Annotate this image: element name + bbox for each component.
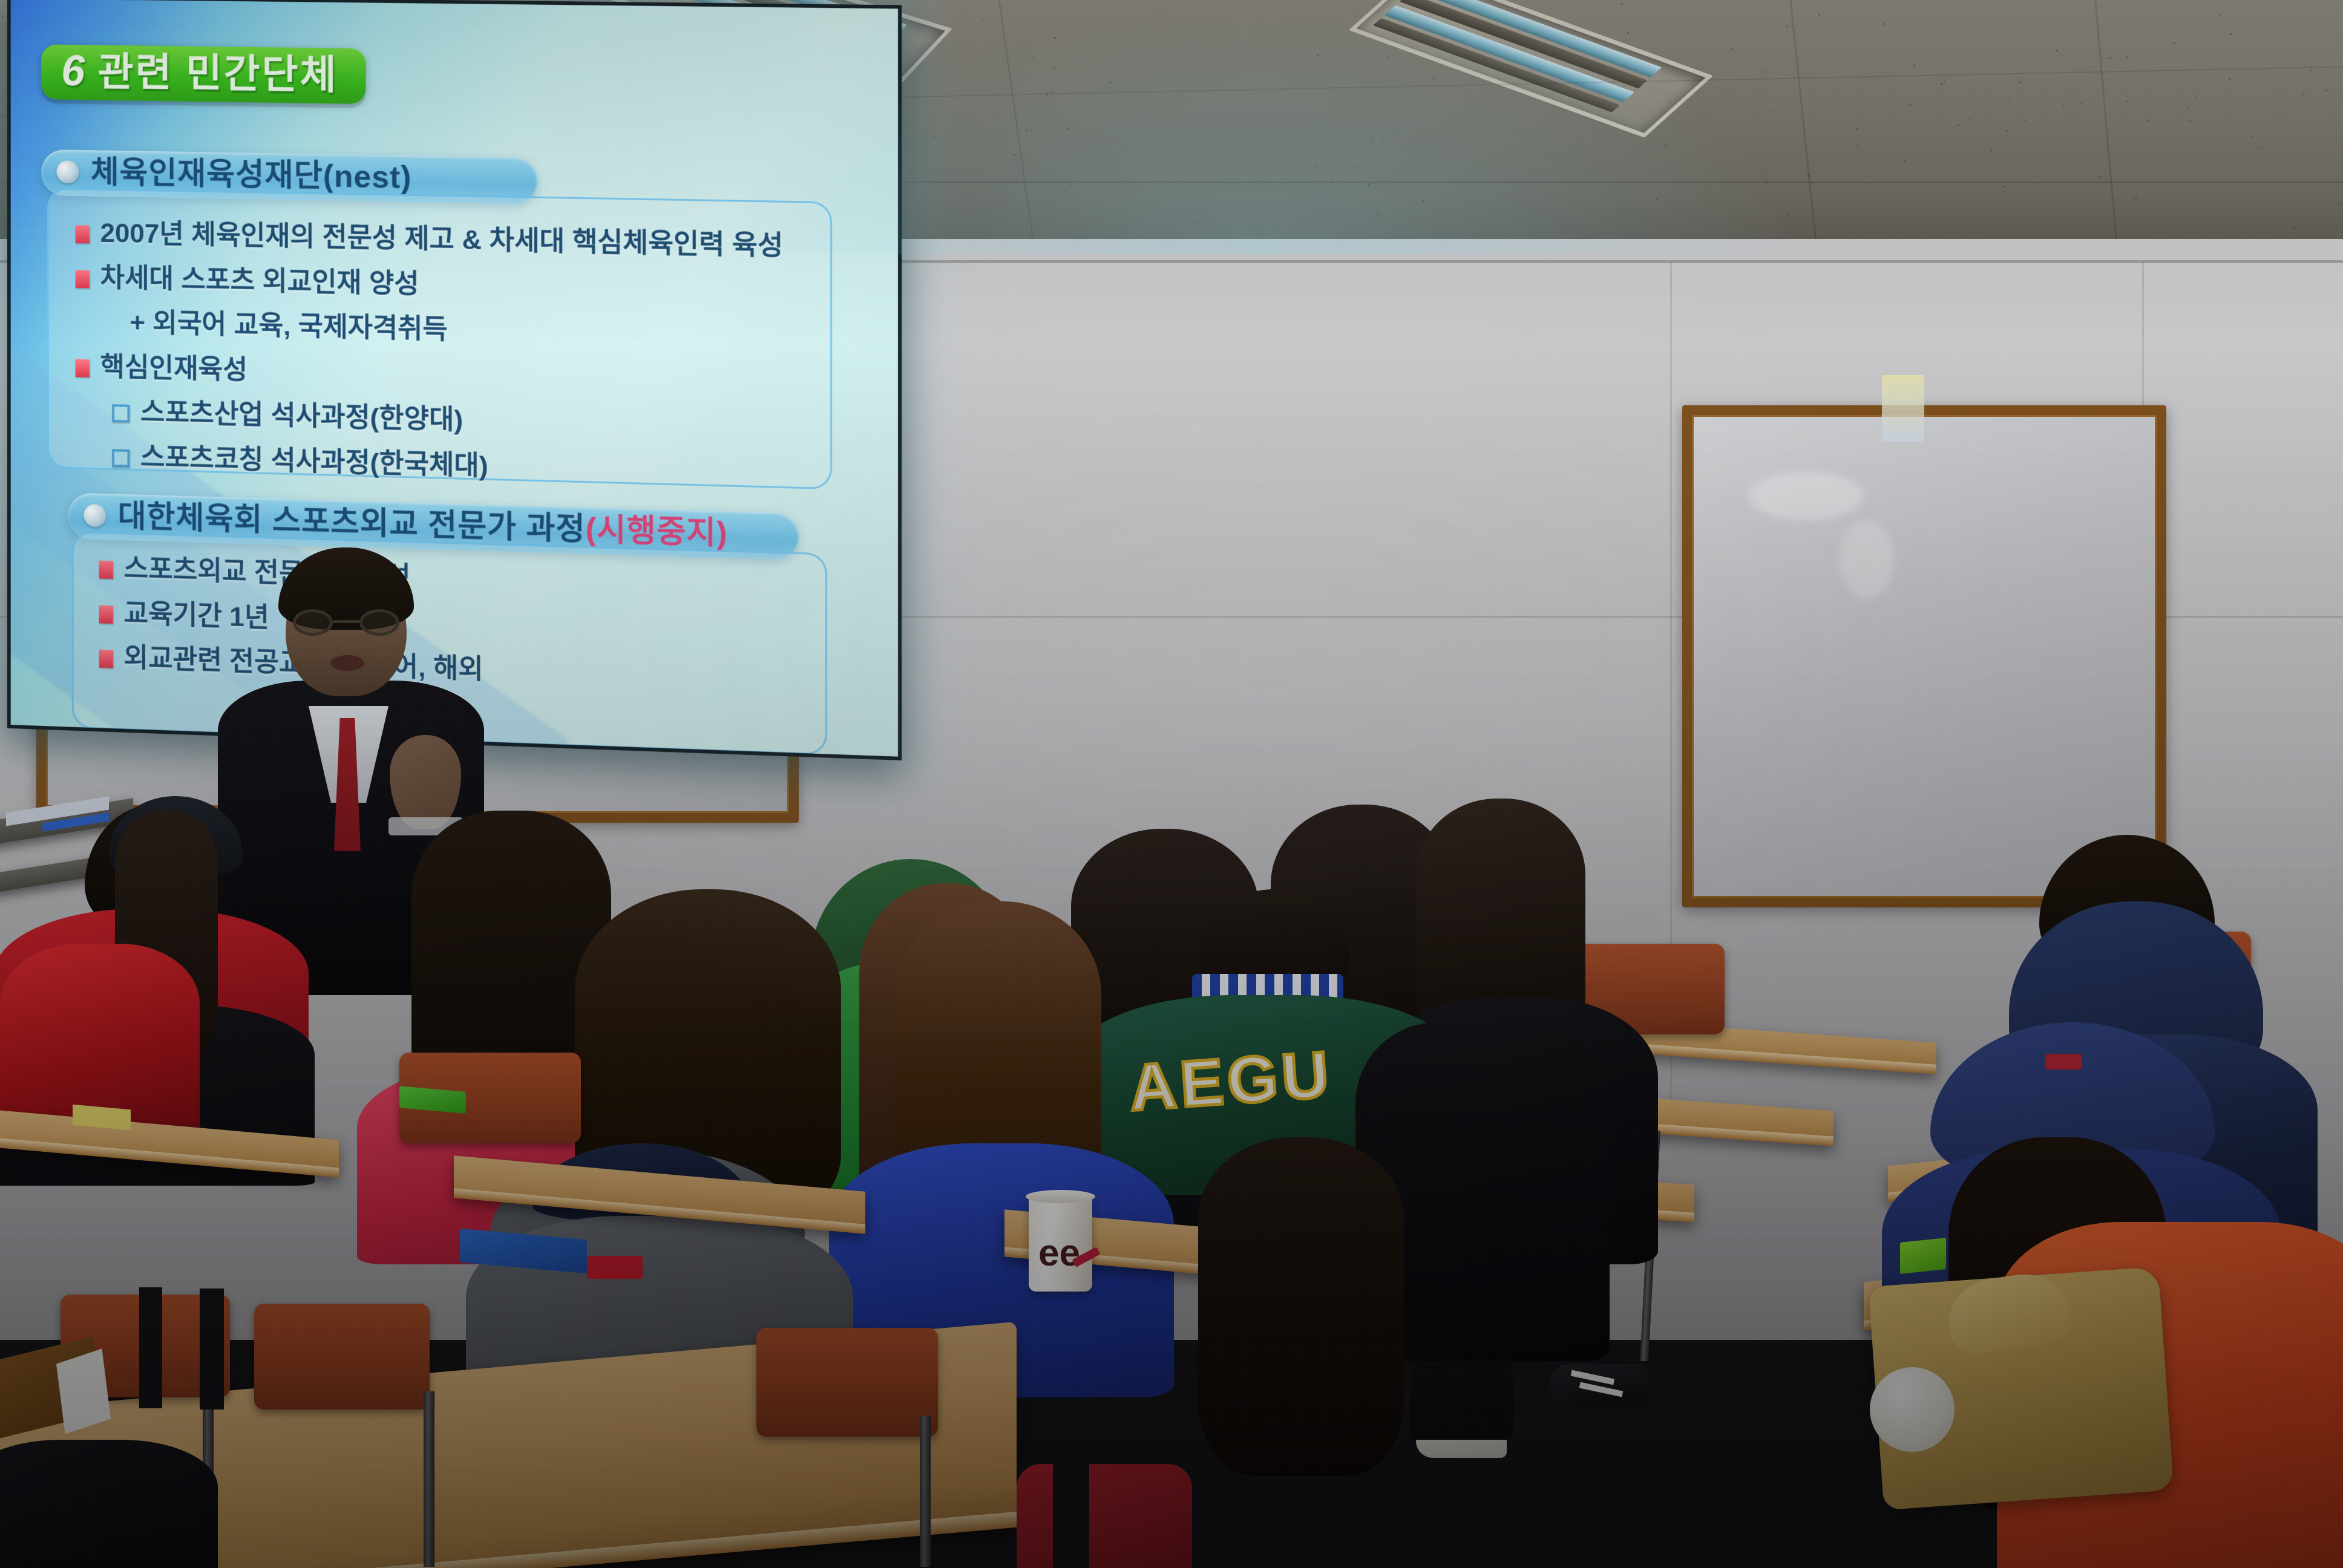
presenter-raised-hand [390,735,461,829]
chair-front-2 [254,1304,430,1410]
whiteboard-right [1682,405,2166,907]
slide-section-number: 6 [61,50,85,93]
varsity-jacket-text: AEGU [1127,1041,1335,1120]
cup-rim [1026,1190,1095,1203]
bullet-dot-icon [84,504,106,528]
bullet-square-icon [99,605,113,623]
chair-front-3 [756,1328,938,1437]
bullet-square-icon [76,225,90,243]
bullet-square-icon [76,359,90,377]
glasses-icon [293,609,399,636]
paper-sheet [56,1348,111,1434]
brand-patch [587,1256,643,1279]
bullet-checkbox-icon [112,449,129,467]
hood-tab [2045,1054,2082,1070]
backpack-strap [1053,1458,1089,1568]
slide-bullet-sub: + 외국어 교육, 국제자격취득 [129,309,783,353]
coat-pompom [1870,1367,1955,1452]
chair-leg [920,1416,931,1567]
slide-bullet: 핵심인재육성 [76,351,784,397]
slide-group1-bullets: 2007년 체육인재의 전문성 제고 & 차세대 핵심체육인력 육성 차세대 스… [76,218,784,505]
bullet-square-icon [99,561,113,579]
slide-bullet: 차세대 스포츠 외교인재 양성 [76,263,784,307]
student-foreground-left [0,1440,218,1568]
green-marker [1900,1238,1946,1274]
slide-bullet-sub: 스포츠산업 석사과정(한양대) [112,397,783,444]
student-hair-foreground [1198,1137,1404,1476]
bullet-checkbox-icon [112,405,129,423]
classroom-scene: 6 관련 민간단체 체육인재육성재단(nest) 2007년 체육인재의 전문성… [0,0,2343,1568]
slide-section-banner: 6 관련 민간단체 [41,44,365,104]
slide-bullet-sub: 스포츠코칭 석사과정(한국체대) [112,442,783,489]
bullet-dot-icon [56,160,79,183]
bullet-square-icon [99,650,113,668]
slide-section-title: 관련 민간단체 [98,51,338,94]
wall-notice-card [1882,375,1924,442]
shoulder-bag-strap [139,1287,162,1408]
bullet-square-icon [76,270,90,288]
coffee-cup: ee [1029,1195,1092,1292]
slide-group2-status-badge: (시행중지) [586,512,728,551]
cup-logo-text: ee [1038,1235,1080,1272]
presenter-mouth [330,655,364,671]
shoulder-bag-strap [200,1289,224,1410]
chair-leg [424,1391,434,1567]
backpack [1017,1464,1192,1568]
